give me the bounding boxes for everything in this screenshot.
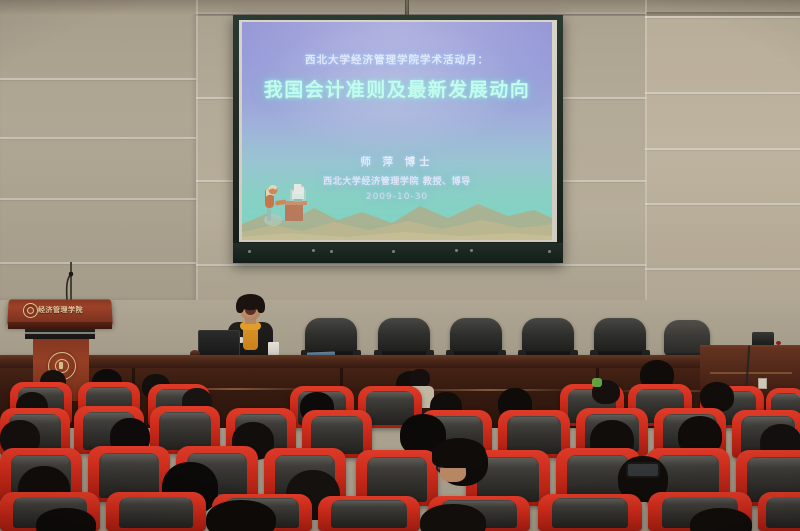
tray-screw: [330, 250, 333, 253]
equipment-box: [752, 332, 774, 346]
slide-clipart-person-at-computer: [259, 180, 321, 232]
conference-table-top: [0, 355, 800, 368]
slide-speaker-name: 师 萍 博士: [242, 154, 552, 169]
audience-seat: [106, 492, 206, 531]
audience-head: [410, 369, 430, 387]
tray-screw: [470, 249, 473, 252]
podium-label: 经济管理学院: [38, 305, 83, 315]
eyeglasses-icon: [626, 462, 660, 478]
tray-screw: [248, 250, 251, 253]
wall-seam: [196, 12, 646, 14]
podium-crest-icon: [23, 303, 38, 318]
left-wall-panel: [0, 0, 196, 300]
lecture-hall-photo: ● ● PrometheanPromethean: [0, 0, 800, 531]
stage-chair: [522, 318, 574, 360]
podium-top-edge: [8, 322, 112, 329]
slide-title-text: 我国会计准则及最新发展动向: [242, 75, 552, 102]
stage-chair: [594, 318, 646, 360]
stage-chair: [378, 318, 430, 360]
wall-seam: [0, 78, 196, 80]
tray-screw: [312, 249, 315, 252]
tray-screw: [392, 250, 395, 253]
wall-seam: [0, 137, 196, 139]
cabinet-panel-line: [710, 372, 792, 374]
presenter-hair-side: [236, 300, 244, 313]
audience-seat: [758, 492, 800, 531]
wall-seam: [196, 264, 646, 266]
podium-neck: [25, 329, 95, 339]
slide-affiliation: 西北大学经济管理学院 教授、博导: [242, 174, 552, 187]
wall-seam: [645, 148, 800, 150]
wall-seam: [645, 92, 800, 94]
wall-seam: [0, 198, 196, 200]
projected-slide: 西北大学经济管理学院学术活动月： 我国会计准则及最新发展动向 师 萍 博士 西北…: [242, 22, 552, 240]
wall-seam: [645, 268, 800, 270]
whiteboard-tray: [233, 243, 563, 261]
audience-seat: [318, 496, 420, 531]
wall-seam: [645, 16, 800, 18]
audience-seat: [538, 494, 642, 531]
audience-hair: [432, 438, 486, 468]
wall-corner-seam: [196, 0, 198, 300]
audience-head: [206, 500, 276, 531]
wall-seam: [645, 203, 800, 205]
laptop-icon: [196, 330, 240, 358]
microphone-icon: [60, 272, 74, 302]
stage-chair: [450, 318, 502, 360]
water-bottle: [592, 378, 602, 387]
slide-kicker-text: 西北大学经济管理学院学术活动月：: [242, 52, 552, 67]
audience-head: [420, 504, 486, 531]
wall-corner-seam: [645, 0, 647, 330]
slide-date: 2009-10-30: [242, 192, 552, 202]
presenter-hair-side: [257, 300, 265, 313]
tray-screw: [548, 250, 551, 253]
right-wall-panel: [645, 0, 800, 330]
wall-seam: [0, 262, 196, 264]
tray-screw: [455, 249, 458, 252]
podium-highlight: [25, 332, 95, 334]
